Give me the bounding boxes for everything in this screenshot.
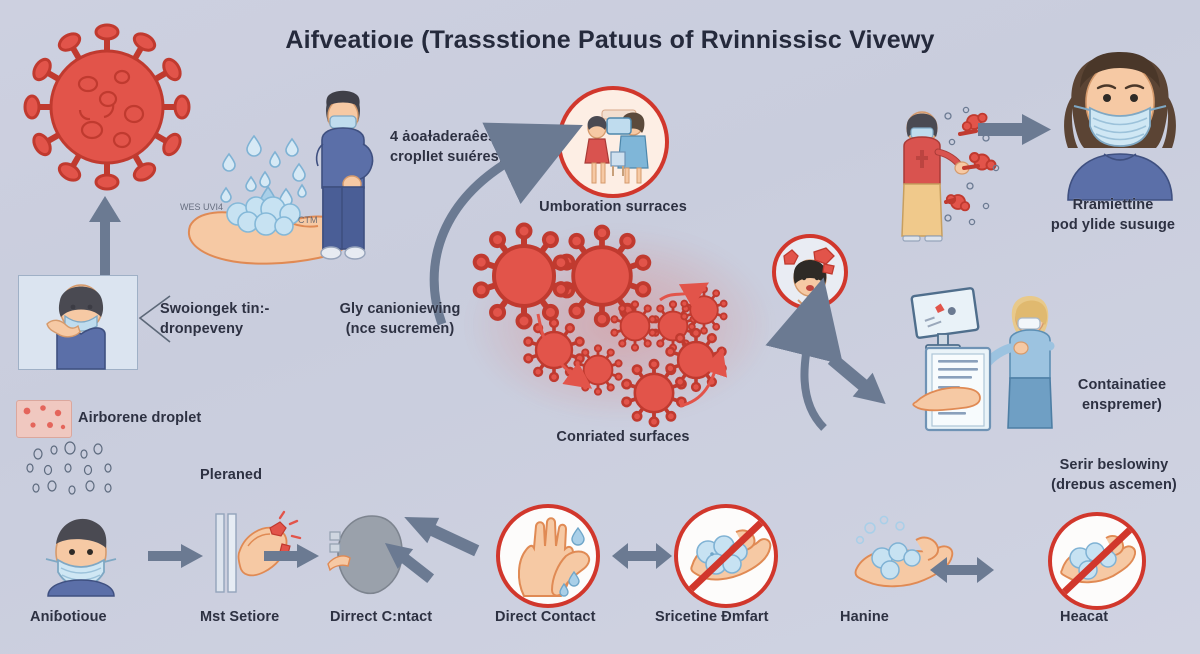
containatiee-line2: enspremer) [1044, 396, 1200, 416]
rramiettine-label: Rramiettine pod ylide susuıge [1026, 196, 1200, 235]
page-title: Aifveatioıe (Trassstione Patuus of Rvinn… [270, 26, 950, 55]
bottom-caption-3: Direct Contact [495, 608, 665, 628]
containatiee-label: Containatiee enspremer) [1044, 376, 1200, 415]
svg-text:WES UVI4: WES UVI4 [180, 202, 223, 212]
arrow-down-to-screen [822, 348, 894, 420]
family-circle-badge-icon [557, 86, 669, 198]
arrow-diagonal-to-head [390, 486, 500, 586]
bottom-caption-4: Sricetine Ɖmfart [655, 608, 825, 628]
swoiongek-line2: dronpeveny [160, 320, 269, 340]
serir-beslowiny-line1: Serir beslowiny [1028, 456, 1200, 476]
screen-cleaning-icon [908, 290, 1058, 430]
airborene-droplet-label: Airborene droplet [78, 409, 201, 429]
swoiongek-label: Swoiongek tin:- dronpeveny [160, 300, 269, 339]
bottom-caption-2: Dirrect C:ntact [330, 608, 500, 628]
arrow-double-bottom-right [930, 554, 994, 586]
swoiongek-line1: Swoiongek tin:- [160, 300, 269, 320]
infographic-canvas: Aifveatioıe (Trassstione Patuus of Rvinn… [0, 0, 1200, 654]
airborne-droplet-swatch-icon [16, 400, 72, 438]
bottom-caption-5: Hanine [840, 608, 1010, 628]
no-soap-wash-badge-icon [674, 504, 778, 608]
coronavirus-icon [22, 22, 192, 192]
arrow-double-bottom [612, 540, 672, 572]
serir-beslowiny-line2: (dreɒus ascemen) [1028, 476, 1200, 496]
containatiee-line1: Containatiee [1044, 376, 1200, 396]
no-soap-wash-right-badge-icon [1048, 512, 1146, 610]
rramiettine-line2: pod ylide susuıge [1026, 216, 1200, 236]
nose-touching-panel [18, 275, 138, 370]
pleraned-label: Pleraned [200, 466, 262, 486]
bottom-caption-0: Aniɓotioue [30, 608, 200, 628]
masked-person-icon [306, 88, 378, 268]
masked-woman-icon [1050, 50, 1190, 200]
conriated-surfaces-label: Conriated surfaces [528, 428, 718, 448]
arrow-up-virus [88, 196, 122, 282]
coughing-face-badge-icon [772, 234, 848, 310]
arrow-to-masked-woman [978, 112, 1052, 148]
droplet-field-icon [22, 442, 162, 502]
virus-cluster-icon [468, 228, 768, 428]
mask-face-icon [40, 512, 122, 596]
arrow-bottom-2 [264, 542, 320, 570]
bottom-caption-6: Heacat [1060, 608, 1200, 628]
serir-beslowiny-label: Serir beslowiny (dreɒus ascemen) [1028, 456, 1200, 495]
no-hand-touch-badge-icon [496, 504, 600, 608]
rramiettine-line1: Rramiettine [1026, 196, 1200, 216]
arrow-bottom-1 [148, 542, 204, 570]
